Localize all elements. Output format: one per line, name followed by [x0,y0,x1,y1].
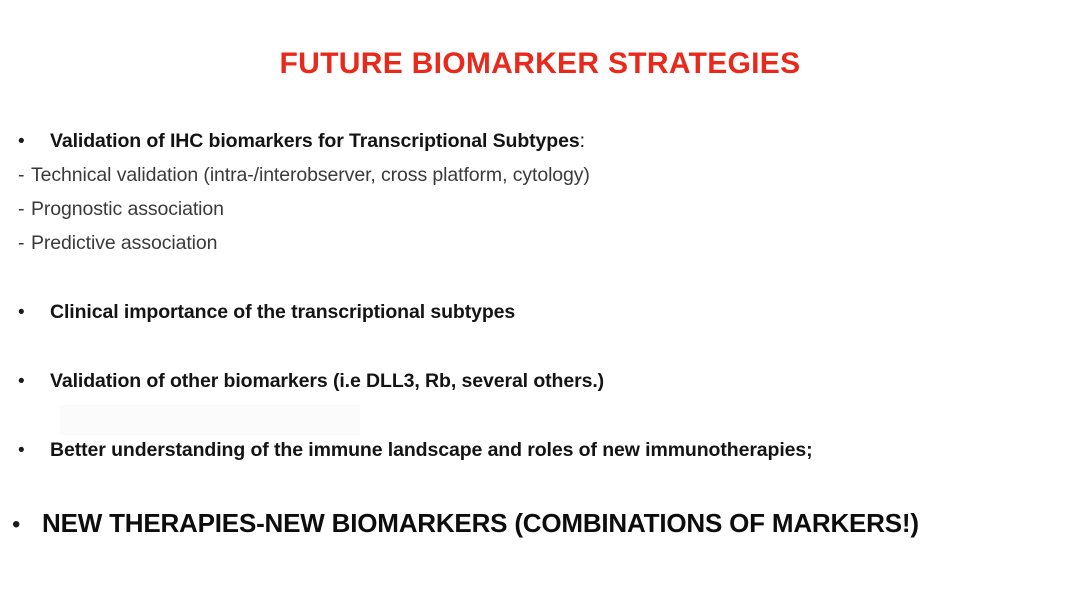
list-item-label: Validation of other biomarkers (i.e DLL3… [50,370,604,393]
dash-icon: - [18,198,31,221]
spacer [0,473,1080,508]
dash-icon: - [18,232,31,255]
list-item: • Clinical importance of the transcripti… [0,301,1080,335]
slide-body: • Validation of IHC biomarkers for Trans… [0,130,1080,548]
list-item-highlighted: • NEW THERAPIES-NEW BIOMARKERS (COMBINAT… [0,508,1080,548]
list-item-suffix: : [580,130,585,152]
sub-list-item-label: Prognostic association [31,198,224,221]
sub-list-item: - Technical validation (intra-/interobse… [0,164,1080,198]
dash-icon: - [18,164,31,187]
page-title: FUTURE BIOMARKER STRATEGIES [0,47,1080,81]
sub-list-item-label: Technical validation (intra-/interobserv… [31,164,590,187]
list-item-label: Better understanding of the immune lands… [50,439,813,462]
bullet-icon: • [18,441,50,460]
spacer [0,266,1080,301]
list-item-label: Validation of IHC biomarkers for Transcr… [50,130,585,153]
list-item: • Better understanding of the immune lan… [0,439,1080,473]
list-item: • Validation of other biomarkers (i.e DL… [0,370,1080,404]
bullet-icon: • [12,513,42,537]
bullet-icon: • [18,132,50,151]
spacer [0,335,1080,370]
bullet-icon: • [18,303,50,322]
list-item-label: NEW THERAPIES-NEW BIOMARKERS (COMBINATIO… [42,508,919,539]
list-item-label: Clinical importance of the transcription… [50,301,515,324]
sub-list-item: - Prognostic association [0,198,1080,232]
sub-list-item-label: Predictive association [31,232,217,255]
list-item: • Validation of IHC biomarkers for Trans… [0,130,1080,164]
presentation-slide: FUTURE BIOMARKER STRATEGIES • Validation… [0,0,1080,613]
bullet-icon: • [18,372,50,391]
spacer [0,404,1080,439]
sub-list-item: - Predictive association [0,232,1080,266]
